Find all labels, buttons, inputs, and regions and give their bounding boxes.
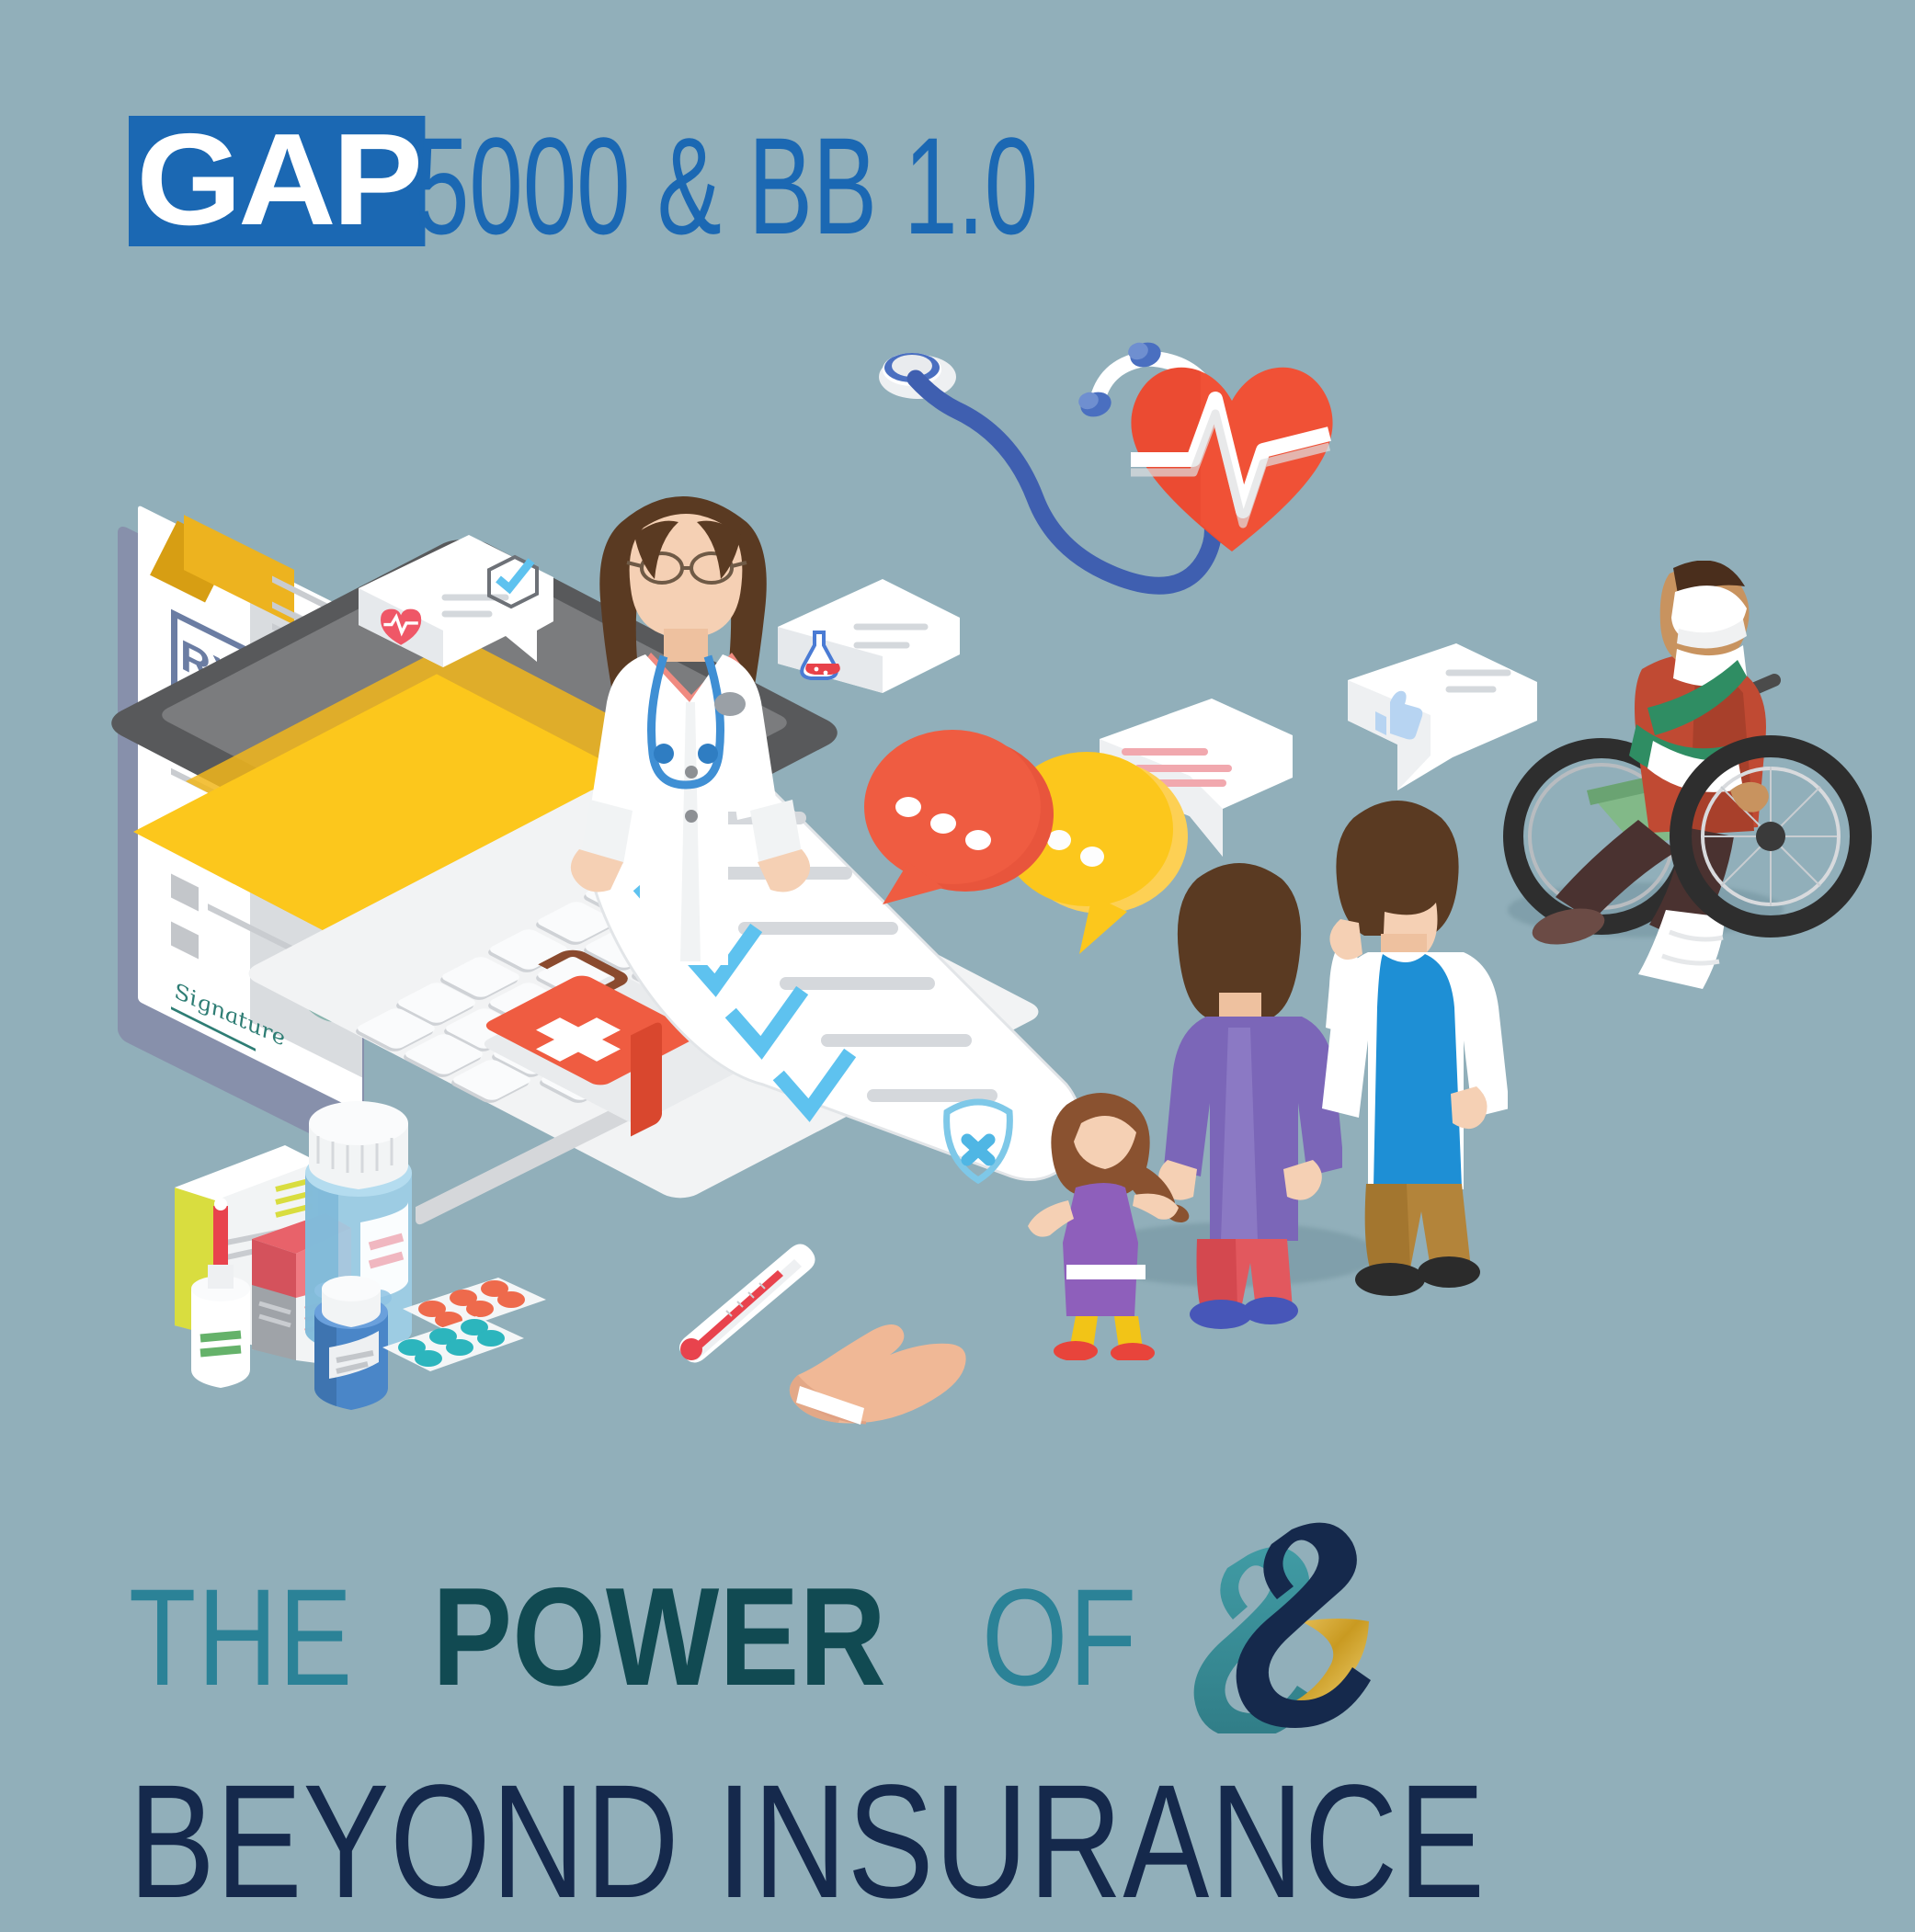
tagline-block: THE POWER OF xyxy=(0,1553,1915,1919)
child-figure xyxy=(1019,1085,1193,1360)
medicines-group xyxy=(138,1085,570,1434)
ampersand-logo xyxy=(1183,1522,1395,1733)
blue-jar xyxy=(314,1276,388,1410)
wheelchair-patient-figure xyxy=(1499,561,1915,1011)
page-title: GAP 5000 & BB 1.0 xyxy=(129,118,1305,246)
word-the: THE xyxy=(129,1574,354,1700)
word-beyond-insurance: BEYOND INSURANCE xyxy=(129,1765,1486,1919)
gap-badge: GAP xyxy=(129,116,425,246)
tagline-line-2: BEYOND INSURANCE xyxy=(0,1765,1915,1919)
word-of: OF xyxy=(982,1574,1138,1700)
word-power: POWER xyxy=(432,1574,886,1700)
notification-card-heart xyxy=(349,533,561,699)
title-suffix: 5000 & BB 1.0 xyxy=(416,125,1038,246)
doctor-figure xyxy=(542,478,837,1066)
hand-icon xyxy=(772,1287,975,1434)
heart-pulse-icon xyxy=(1112,331,1351,588)
father-figure xyxy=(1296,790,1508,1324)
poster-canvas: GAP 5000 & BB 1.0 RX xyxy=(0,0,1915,1915)
tagline-line-1: THE POWER OF xyxy=(0,1553,1915,1700)
